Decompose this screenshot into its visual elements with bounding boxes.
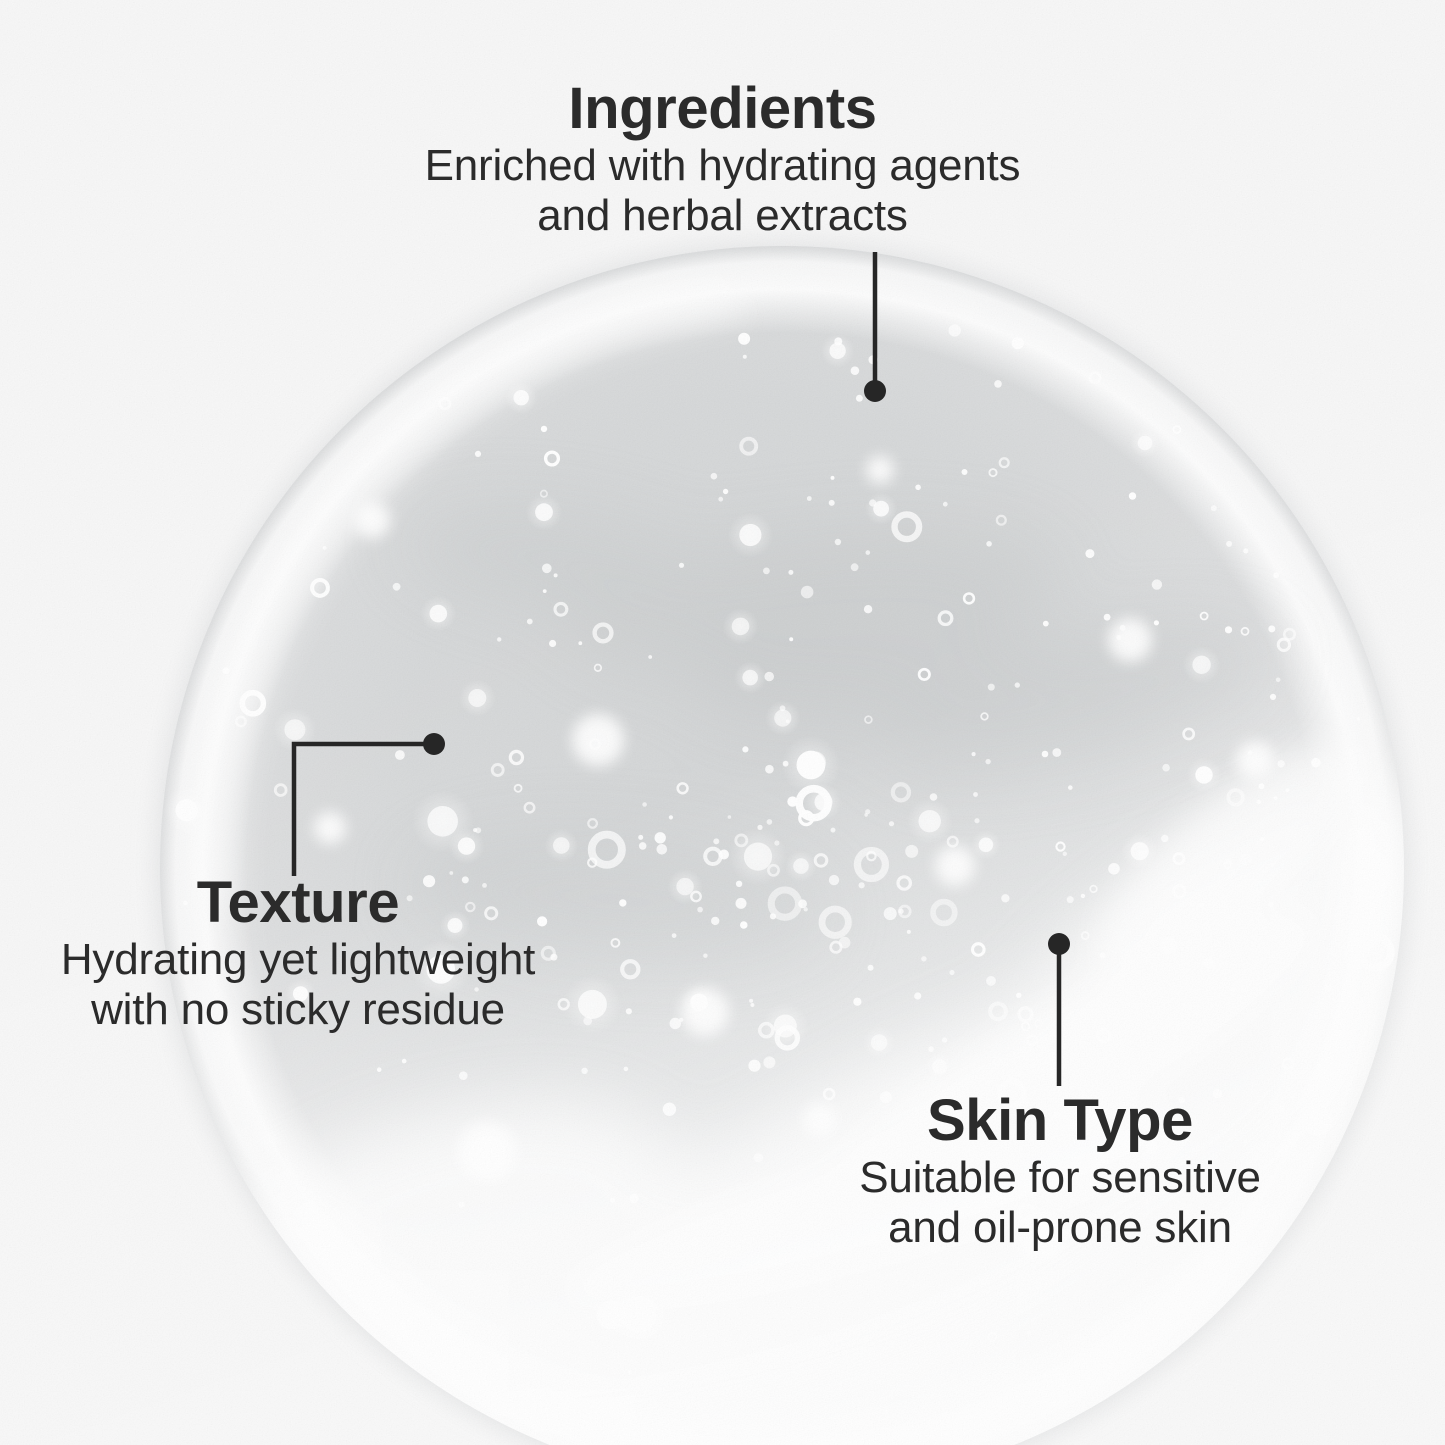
bubble [905, 845, 918, 858]
bubble [629, 1194, 639, 1204]
callout-heading-skintype: Skin Type [790, 1090, 1330, 1151]
bubble [377, 1067, 382, 1072]
bubble [1138, 436, 1153, 451]
bubble [994, 380, 1002, 388]
bubble [851, 366, 860, 375]
bubble [831, 828, 836, 833]
bubble [1270, 694, 1276, 700]
bubble [1042, 751, 1049, 758]
bubble [610, 1198, 615, 1203]
callout-body-line: and oil-prone skin [790, 1203, 1330, 1253]
bubble [1183, 1003, 1187, 1007]
bubble [624, 1067, 629, 1072]
bubble [459, 1202, 465, 1208]
bubble [638, 835, 643, 840]
bubble [223, 667, 230, 674]
bubble [1259, 783, 1265, 789]
bubble [973, 792, 978, 797]
bubble [1129, 492, 1136, 499]
bubble [986, 976, 996, 986]
bubble [930, 793, 938, 801]
bubble [742, 746, 748, 752]
bubble [986, 541, 992, 547]
bubble [1194, 1046, 1200, 1052]
bubble [974, 818, 979, 823]
bubble [578, 641, 582, 645]
bubble [748, 1060, 760, 1072]
bubble [597, 1300, 626, 1329]
bubble [1195, 766, 1212, 783]
bubble [459, 1071, 468, 1080]
bubble [639, 842, 647, 850]
bubble [468, 689, 486, 707]
bubble [1015, 682, 1020, 687]
bubble [763, 1056, 775, 1068]
bubble [767, 819, 773, 825]
bubble [1120, 625, 1126, 631]
bubble [1226, 541, 1232, 547]
bubble [1268, 902, 1273, 907]
bubble [1100, 953, 1106, 959]
bubble [765, 765, 774, 774]
bubble [711, 917, 719, 925]
bubble [736, 898, 747, 909]
bubble [943, 502, 948, 507]
bubble [1104, 614, 1111, 621]
bubble [864, 605, 872, 613]
bubble [750, 1003, 754, 1007]
bubble [1230, 987, 1235, 992]
callout-body-line: Hydrating yet lightweight [0, 935, 596, 985]
bubble [628, 1370, 632, 1374]
bubble [1257, 800, 1261, 804]
bubble [676, 878, 693, 895]
bubble [985, 759, 990, 764]
bubble [1043, 621, 1049, 627]
callout-text-ingredients: Ingredients Enriched with hydrating agen… [0, 78, 1445, 241]
bubble [473, 828, 477, 832]
bubble [1063, 852, 1067, 856]
callout-body-line: and herbal extracts [425, 191, 1021, 241]
bubble [672, 933, 677, 938]
bubble [1160, 937, 1177, 954]
bubble [723, 489, 728, 494]
bubble [402, 1059, 407, 1064]
bubble [703, 954, 707, 958]
bubble [744, 843, 772, 871]
infographic-canvas: Ingredients Enriched with hydrating agen… [0, 0, 1445, 1445]
bubble [1248, 750, 1253, 755]
bubble [176, 799, 198, 821]
bubble [554, 573, 558, 577]
bubble [869, 355, 878, 364]
bubble [907, 930, 911, 934]
bubble [690, 994, 708, 1012]
bubble [807, 496, 812, 501]
bubble [914, 992, 921, 999]
bubble [1243, 548, 1248, 553]
bubble [1311, 758, 1321, 768]
bubble [1286, 788, 1290, 792]
bubble [1085, 549, 1094, 558]
bubble [932, 1059, 947, 1074]
bubble [754, 1153, 763, 1162]
bubble [679, 563, 684, 568]
bubble [1162, 764, 1170, 772]
bubble [928, 1046, 934, 1052]
bubble [919, 810, 941, 832]
bubble [619, 899, 626, 906]
bubble [1192, 656, 1210, 674]
bubble [739, 524, 761, 546]
callout-text-skintype: Skin Type Suitable for sensitive and oil… [790, 1090, 1330, 1253]
bubble [952, 1412, 962, 1422]
bubble [788, 570, 793, 575]
bubble [732, 618, 750, 636]
bubble [542, 564, 552, 574]
bubble [514, 390, 529, 405]
bubble [697, 907, 703, 913]
bubble [475, 451, 481, 457]
bubble [1273, 572, 1279, 578]
bubble [774, 710, 791, 727]
bubble [1152, 579, 1162, 589]
bubble [718, 497, 723, 502]
bubble [1108, 863, 1120, 875]
bubble [949, 970, 954, 975]
callout-heading-texture: Texture [0, 872, 596, 933]
bubble [871, 1034, 887, 1050]
bubble [648, 655, 652, 659]
bubble [642, 802, 647, 807]
bubble [1012, 337, 1024, 349]
bubble [527, 619, 533, 625]
bubble [742, 670, 758, 686]
bubble [663, 1103, 676, 1116]
bubble [1274, 796, 1278, 800]
callout-text-texture: Texture Hydrating yet lightweight with n… [0, 872, 596, 1035]
bubble [549, 640, 556, 647]
bubble [1211, 505, 1217, 511]
bubble [1277, 760, 1284, 767]
bubble [713, 838, 719, 844]
bubble [1001, 894, 1009, 902]
bubble [1276, 678, 1281, 683]
bubble [1161, 835, 1168, 842]
bubble [284, 719, 305, 740]
callout-body-texture: Hydrating yet lightweight with no sticky… [0, 935, 596, 1034]
bubble [851, 563, 859, 571]
bubble [1240, 853, 1252, 865]
callout-body-line: Suitable for sensitive [790, 1153, 1330, 1203]
bubble [1203, 957, 1214, 968]
bubble [797, 751, 826, 780]
bubble [1226, 858, 1232, 864]
bubble [859, 882, 865, 888]
bubble [743, 355, 747, 359]
bubble [869, 499, 876, 506]
callout-heading-ingredients: Ingredients [425, 78, 1021, 139]
bubble [655, 832, 666, 843]
bubble [1324, 984, 1331, 991]
bubble [728, 815, 732, 819]
bubble [988, 684, 995, 691]
bubble [669, 815, 673, 819]
bubble [711, 473, 718, 480]
bubble [1268, 625, 1275, 632]
bubble [1081, 894, 1085, 898]
callout-body-ingredients: Enriched with hydrating agents and herba… [425, 141, 1021, 240]
bubble [801, 586, 814, 599]
bubble [898, 909, 903, 914]
bubble [1199, 902, 1204, 907]
bubble [323, 546, 327, 550]
bubble [535, 503, 553, 521]
bubble [740, 921, 748, 929]
bubble [865, 809, 870, 814]
bubble [657, 844, 668, 855]
bubble [884, 907, 897, 920]
bubble [979, 838, 994, 853]
bubble [921, 956, 926, 961]
callout-body-line: with no sticky residue [0, 985, 596, 1035]
bubble [670, 1018, 681, 1029]
bubble [856, 395, 863, 402]
bubble [738, 333, 750, 345]
bubble [866, 550, 871, 555]
bubble [395, 750, 405, 760]
bubble [949, 324, 961, 336]
bubble [853, 998, 861, 1006]
bubble [915, 485, 921, 491]
callout-body-skintype: Suitable for sensitive and oil-prone ski… [790, 1153, 1330, 1252]
bubble [942, 1037, 947, 1042]
bubble [1060, 1043, 1066, 1049]
bubble [835, 539, 841, 545]
bubble [1052, 945, 1063, 956]
bubble [430, 605, 448, 623]
bubble [793, 858, 809, 874]
bubble [1016, 993, 1021, 998]
bubble [962, 469, 968, 475]
bubble [541, 426, 547, 432]
bubble [1225, 626, 1232, 633]
bubble [1154, 620, 1159, 625]
bubble [1116, 635, 1121, 640]
bubble [1052, 748, 1061, 757]
bubble [787, 796, 797, 806]
bubble [972, 752, 976, 756]
bubble [553, 837, 570, 854]
bubble [343, 1247, 349, 1253]
bubble [868, 965, 874, 971]
bubble [1068, 785, 1073, 790]
bubble [834, 337, 842, 345]
bubble [829, 875, 839, 885]
bubble [774, 1015, 797, 1038]
bubble [831, 476, 835, 480]
bubble [393, 583, 401, 591]
bubble [1067, 896, 1074, 903]
bubble [497, 637, 501, 641]
bubble [736, 881, 742, 887]
bubble [829, 500, 835, 506]
bubble [1026, 1331, 1030, 1335]
bubble [749, 999, 753, 1003]
bubble [763, 568, 770, 575]
bubble [626, 1008, 632, 1014]
bubble [789, 637, 793, 641]
bubble [543, 589, 547, 593]
bubble [1131, 842, 1149, 860]
bubble [581, 1068, 587, 1074]
bubble [1260, 837, 1264, 841]
bubble [427, 806, 458, 837]
bubble [889, 821, 894, 826]
bubble [1357, 717, 1361, 721]
bubble [804, 907, 808, 911]
callout-body-line: Enriched with hydrating agents [425, 141, 1021, 191]
